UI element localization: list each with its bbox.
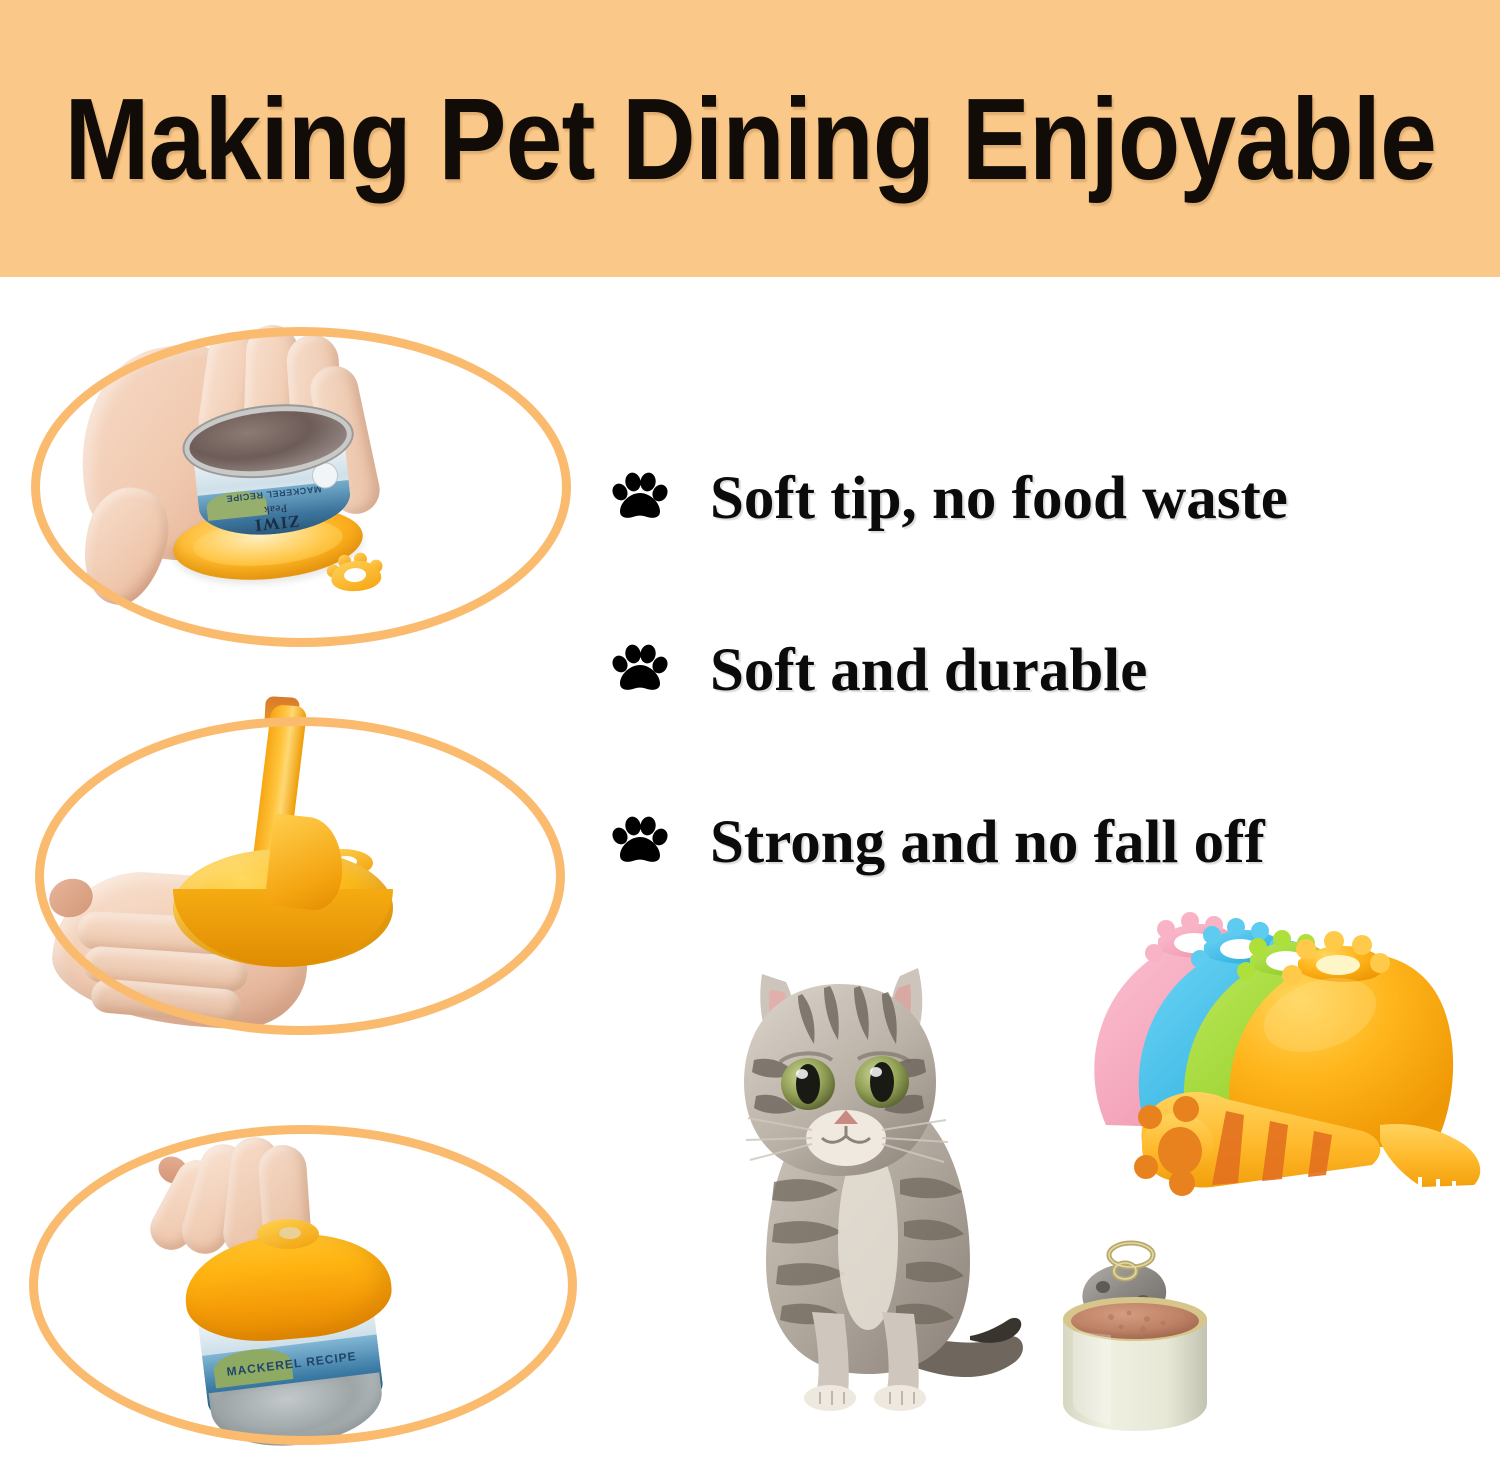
feature-list: Soft tip, no food waste Soft and durable — [612, 412, 1492, 928]
orange-ellipse-outline — [29, 1125, 577, 1445]
header-banner: Making Pet Dining Enjoyable — [0, 0, 1500, 277]
list-item: Soft and durable — [612, 584, 1492, 756]
list-item-label: Soft and durable — [710, 640, 1147, 701]
page-title: Making Pet Dining Enjoyable — [64, 81, 1436, 197]
orange-ellipse-outline — [35, 717, 565, 1035]
feature-panel-soft-durable — [25, 707, 580, 1052]
feature-panel-soft-tip: ZIWI Peak MACKEREL RECIPE — [25, 317, 580, 662]
list-item-label: Strong and no fall off — [710, 812, 1265, 873]
paw-print-icon — [612, 470, 668, 526]
content-area: ZIWI Peak MACKEREL RECIPE — [0, 277, 1500, 1465]
paw-print-icon — [612, 814, 668, 870]
kitten-photo — [670, 932, 1070, 1432]
silicone-lid-fan-photo — [1062, 895, 1492, 1215]
kitten-paw — [804, 1385, 856, 1411]
list-item-label: Soft tip, no food waste — [710, 468, 1288, 529]
feature-panel-strong-no-fall-off: ZIWI Peak MACKEREL RECIPE — [25, 1117, 580, 1462]
paw-print-icon — [612, 642, 668, 698]
list-item: Soft tip, no food waste — [612, 412, 1492, 584]
opened-pet-food-can-photo — [1035, 1235, 1235, 1445]
kitten-paw — [874, 1385, 926, 1411]
orange-ellipse-outline — [31, 327, 571, 647]
